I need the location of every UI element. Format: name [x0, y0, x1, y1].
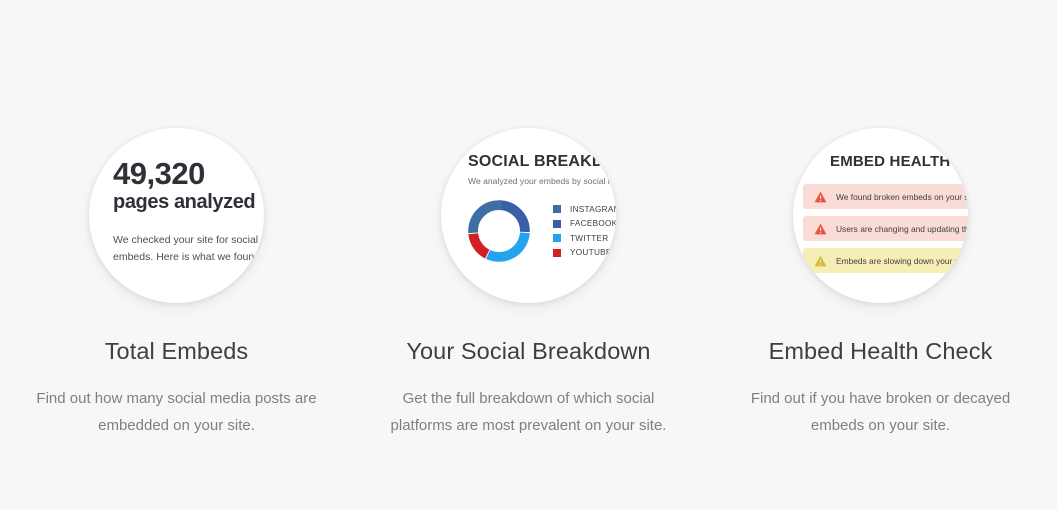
feature-column-embed-health: EMBED HEALTH CHECK We found broken embed…	[705, 128, 1057, 440]
feature-column-total-embeds: 49,320 pages analyzed We checked your si…	[1, 128, 353, 440]
legend-item-instagram: INSTAGRAM	[553, 202, 616, 217]
social-breakdown-legend: INSTAGRAMFACEBOOKTWITTERYOUTUBE	[553, 202, 616, 260]
stat-description-line-1: We checked your site for social media	[113, 232, 264, 249]
legend-label-youtube: YOUTUBE	[570, 248, 612, 257]
feature-title-social-breakdown: Your Social Breakdown	[406, 338, 650, 365]
legend-label-instagram: INSTAGRAM	[570, 205, 616, 214]
stat-card-content: 49,320 pages analyzed We checked your si…	[89, 128, 264, 303]
donut-segment-instagram	[473, 205, 502, 233]
social-breakdown-card-title: SOCIAL BREAKDOWN	[468, 153, 616, 171]
alert-text: We found broken embeds on your site!	[836, 192, 968, 202]
warning-triangle-icon	[814, 191, 827, 203]
embed-health-card-content: EMBED HEALTH CHECK We found broken embed…	[793, 128, 968, 303]
legend-swatch-twitter	[553, 234, 561, 242]
donut-segment-facebook	[500, 205, 525, 232]
social-breakdown-donut-chart	[464, 196, 534, 266]
feature-description-social-breakdown: Get the full breakdown of which social p…	[379, 385, 679, 440]
feature-description-total-embeds: Find out how many social media posts are…	[27, 385, 327, 440]
feature-column-social-breakdown: SOCIAL BREAKDOWN We analyzed your embeds…	[353, 128, 705, 440]
warning-triangle-icon	[814, 223, 827, 235]
legend-label-twitter: TWITTER	[570, 234, 608, 243]
stat-number: 49,320	[113, 156, 205, 192]
social-breakdown-circle-card: SOCIAL BREAKDOWN We analyzed your embeds…	[441, 128, 616, 303]
stat-circle-card: 49,320 pages analyzed We checked your si…	[89, 128, 264, 303]
embed-health-alert-list: We found broken embeds on your site!User…	[803, 184, 968, 280]
stat-label: pages analyzed	[113, 191, 255, 214]
legend-label-facebook: FACEBOOK	[570, 219, 616, 228]
alert-row: Embeds are slowing down your site	[803, 248, 968, 273]
social-breakdown-card-subtitle: We analyzed your embeds by social networ…	[468, 176, 616, 186]
donut-segment-youtube	[473, 234, 487, 254]
legend-swatch-instagram	[553, 205, 561, 213]
embed-health-card-title: EMBED HEALTH CHECK	[830, 153, 968, 170]
alert-row: Users are changing and updating their me…	[803, 216, 968, 241]
stat-description: We checked your site for social media em…	[113, 232, 264, 266]
alert-text: Embeds are slowing down your site	[836, 256, 968, 266]
legend-swatch-youtube	[553, 249, 561, 257]
feature-title-total-embeds: Total Embeds	[105, 338, 249, 365]
alert-row: We found broken embeds on your site!	[803, 184, 968, 209]
warning-triangle-icon	[814, 255, 827, 267]
legend-item-facebook: FACEBOOK	[553, 217, 616, 232]
social-breakdown-card-content: SOCIAL BREAKDOWN We analyzed your embeds…	[441, 128, 616, 303]
embed-health-circle-card: EMBED HEALTH CHECK We found broken embed…	[793, 128, 968, 303]
stat-description-line-2: embeds. Here is what we found.	[113, 249, 264, 266]
legend-item-youtube: YOUTUBE	[553, 246, 616, 261]
donut-segment-twitter	[488, 233, 525, 257]
legend-swatch-facebook	[553, 220, 561, 228]
feature-section: 49,320 pages analyzed We checked your si…	[0, 0, 1057, 510]
legend-item-twitter: TWITTER	[553, 231, 616, 246]
feature-title-embed-health: Embed Health Check	[769, 338, 993, 365]
feature-description-embed-health: Find out if you have broken or decayed e…	[731, 385, 1031, 440]
alert-text: Users are changing and updating their me…	[836, 224, 968, 234]
